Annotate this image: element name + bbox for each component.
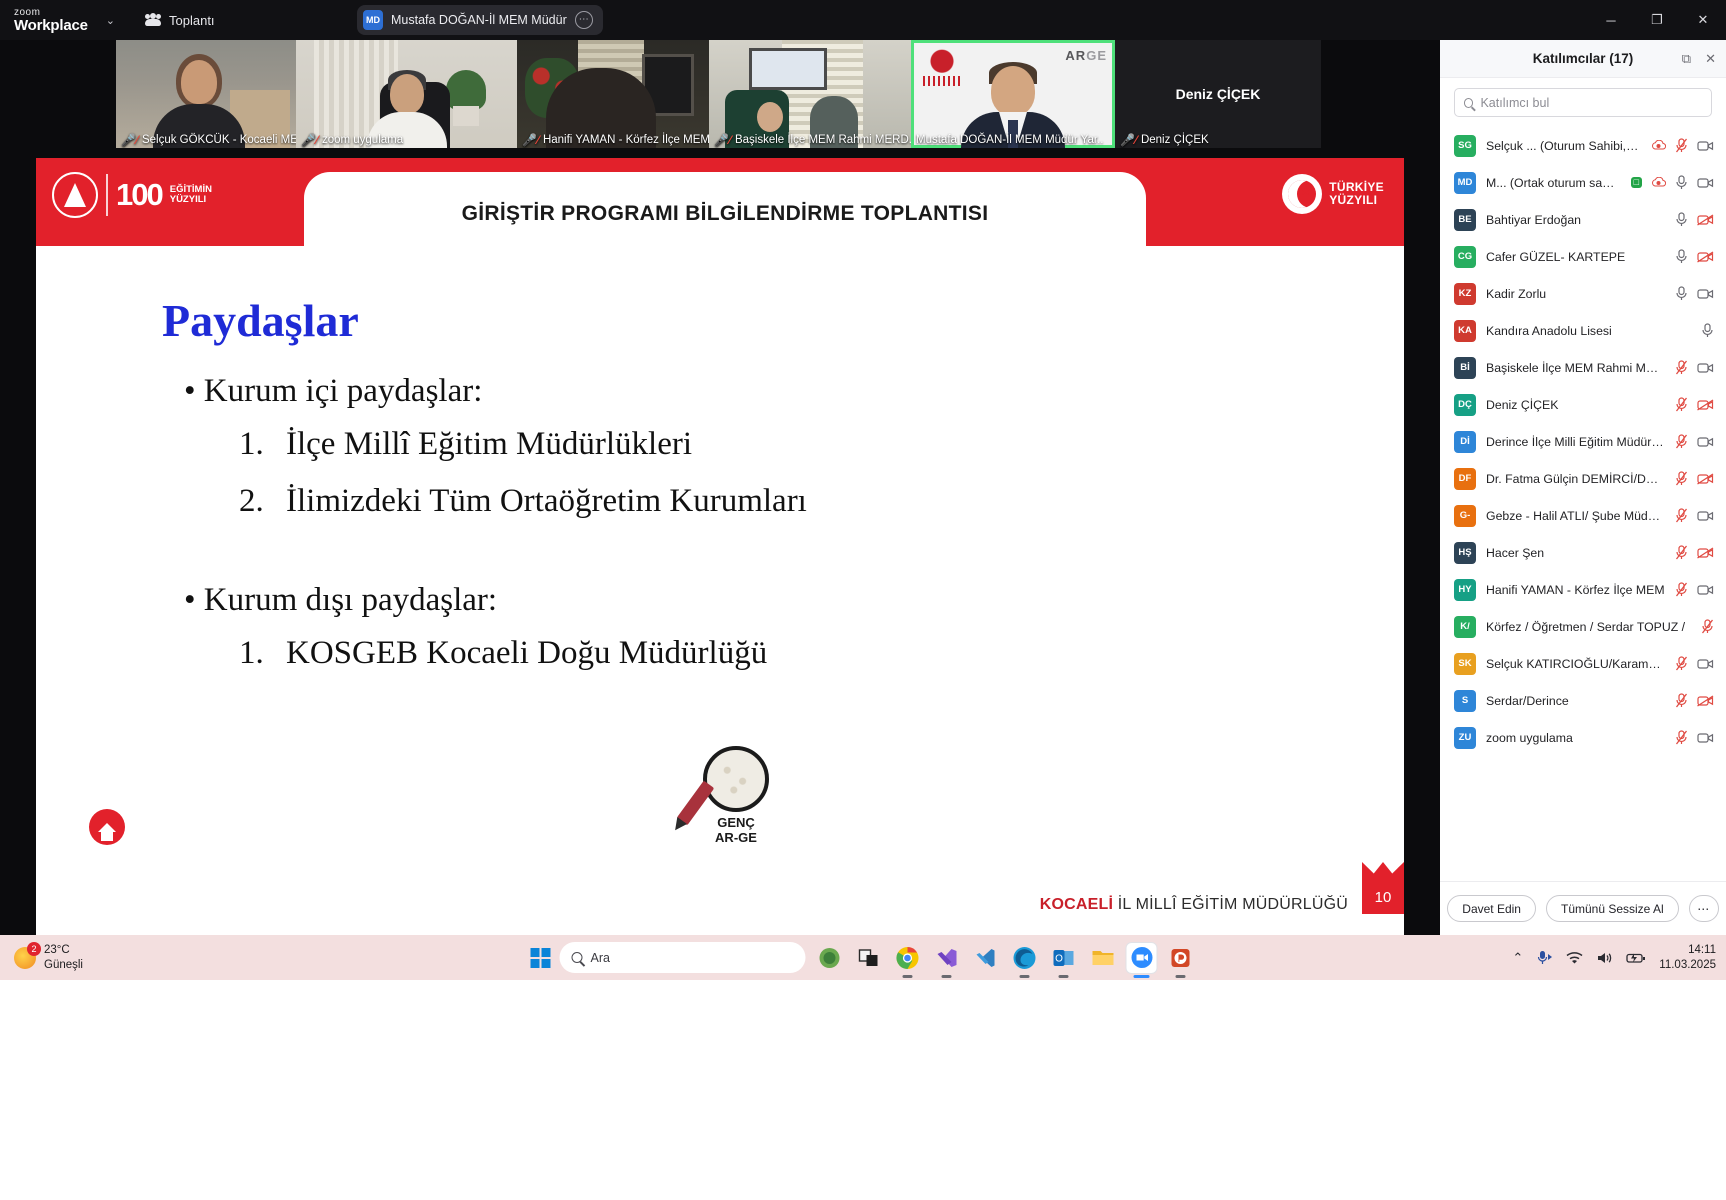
- video-tile[interactable]: 🎤⁄ Hanifi YAMAN - Körfez İlçe MEM: [517, 40, 709, 148]
- avatar: SK: [1454, 653, 1476, 675]
- camera-on-icon: [1697, 584, 1714, 596]
- footer-rest: İL MİLLÎ EĞİTİM MÜDÜRLÜĞÜ: [1113, 896, 1348, 913]
- participant-status-icons: [1651, 138, 1714, 153]
- taskbar-search-placeholder: Ara: [591, 951, 610, 965]
- avatar: DF: [1454, 468, 1476, 490]
- camera-off-icon: [1697, 695, 1714, 707]
- slide-page-number: 10: [1362, 862, 1404, 914]
- video-tile-no-video[interactable]: Deniz ÇİÇEK 🎤⁄ Deniz ÇİÇEK: [1115, 40, 1321, 148]
- mic-muted-icon: 🎤⁄: [301, 133, 318, 147]
- meb-logo: 100 EĞİTİMİN YÜZYILI: [52, 172, 212, 218]
- participant-search-wrapper: [1440, 78, 1726, 125]
- avatar: KA: [1454, 320, 1476, 342]
- mic-muted-icon: 🎤⁄: [121, 133, 138, 147]
- meb-seal-icon: [52, 172, 98, 218]
- weather-widget[interactable]: 2 23°C Güneşli: [14, 943, 83, 972]
- zoom-logo-line2: Workplace: [14, 18, 88, 33]
- mute-all-button[interactable]: Tümünü Sessize Al: [1546, 895, 1679, 922]
- camera-on-icon: [1697, 140, 1714, 152]
- participant-row[interactable]: ZUzoom uygulama: [1440, 719, 1726, 756]
- svg-text:O: O: [1055, 953, 1063, 964]
- participant-row[interactable]: KZKadir Zorlu: [1440, 275, 1726, 312]
- participant-name: Dr. Fatma Gülçin DEMİRCİ/Darıc...: [1486, 472, 1665, 486]
- copilot-icon[interactable]: [815, 943, 845, 973]
- participant-name: Serdar/Derince: [1486, 694, 1665, 708]
- video-tile[interactable]: 🎤⁄ Başiskele İlçe MEM Rahmi MERD..: [709, 40, 911, 148]
- camera-off-icon: [1697, 547, 1714, 559]
- participant-status-icons: □: [1631, 175, 1714, 190]
- participant-row[interactable]: MDM... (Ortak oturum sahibi)□: [1440, 164, 1726, 201]
- video-tile-active-speaker[interactable]: ARGE Mustafa DOĞAN-İl MEM Müdür Yar..: [911, 40, 1115, 148]
- participant-name: Selçuk ... (Oturum Sahibi, ben): [1486, 139, 1641, 153]
- participant-name: Selçuk KATIRCIOĞLU/Karamürsel: [1486, 657, 1665, 671]
- participant-name: zoom uygulama: [1486, 731, 1665, 745]
- windows-taskbar: 2 23°C Güneşli Ara: [0, 935, 1726, 980]
- camera-off-icon: [1697, 214, 1714, 226]
- participant-name: Gebze - Halil ATLI/ Şube Müdürü: [1486, 509, 1665, 523]
- taskbar-search[interactable]: Ara: [560, 942, 806, 973]
- video-tile[interactable]: 🎤⁄ zoom uygulama: [296, 40, 517, 148]
- screen-share-badge: □: [1631, 177, 1642, 188]
- zoom-logo: zoom Workplace: [14, 8, 88, 33]
- slide-bullet-2: • Kurum dışı paydaşlar:: [184, 582, 1404, 619]
- minimize-button[interactable]: ─: [1588, 0, 1634, 40]
- mic-muted-icon: [1675, 138, 1688, 153]
- genc-arge-text: GENÇ AR-GE: [681, 816, 791, 846]
- participant-row[interactable]: DÇDeniz ÇİÇEK: [1440, 386, 1726, 423]
- avatar: ZU: [1454, 727, 1476, 749]
- meb-text-line2: YÜZYILI: [170, 195, 212, 205]
- outlook-icon[interactable]: O: [1049, 943, 1079, 973]
- participant-row[interactable]: HYHanifi YAMAN - Körfez İlçe MEM: [1440, 571, 1726, 608]
- camera-on-icon: [1697, 732, 1714, 744]
- avatar: Bİ: [1454, 357, 1476, 379]
- participants-panel-title: Katılımcılar (17): [1533, 51, 1634, 66]
- participant-status-icons: [1675, 508, 1714, 523]
- system-tray: ⌃ 14:11 11.03.2025: [1512, 943, 1716, 973]
- participant-status-icons: [1675, 249, 1714, 264]
- slide-footer: KOCAELİ İL MİLLÎ EĞİTİM MÜDÜRLÜĞÜ 10: [1040, 862, 1404, 914]
- weather-condition: Güneşli: [44, 958, 83, 972]
- participant-status-icons: [1675, 471, 1714, 486]
- avatar: HŞ: [1454, 542, 1476, 564]
- video-tile[interactable]: 🎤⁄ Selçuk GÖKCÜK - Kocaeli MEM ...: [116, 40, 296, 148]
- file-explorer-icon[interactable]: [1088, 943, 1118, 973]
- slide-heading: Paydaşlar: [162, 294, 1404, 347]
- participants-panel: Katılımcılar (17) ⧉ ✕ SGSelçuk ... (Otur…: [1440, 40, 1726, 935]
- video-tile-name: Mustafa DOĞAN-İl MEM Müdür Yar..: [916, 134, 1103, 146]
- list-item: İlçe Millî Eğitim Müdürlükleri: [272, 426, 1404, 463]
- search-icon: [1464, 98, 1473, 108]
- recording-icon: [1651, 177, 1666, 188]
- avatar: MD: [1454, 172, 1476, 194]
- participant-row[interactable]: DFDr. Fatma Gülçin DEMİRCİ/Darıc...: [1440, 460, 1726, 497]
- tab-meeting[interactable]: Toplantı: [145, 13, 215, 28]
- avatar: CG: [1454, 246, 1476, 268]
- avatar: K/: [1454, 616, 1476, 638]
- camera-off-icon: [1697, 399, 1714, 411]
- active-meeting-pill[interactable]: MD Mustafa DOĞAN-İl MEM Müdür ⋯: [357, 5, 603, 35]
- participants-panel-header: Katılımcılar (17) ⧉ ✕: [1440, 40, 1726, 78]
- participant-status-icons: [1701, 619, 1714, 634]
- genc-arge-line2: AR-GE: [681, 831, 791, 846]
- sun-icon: 2: [14, 947, 36, 969]
- participant-status-icons: [1675, 434, 1714, 449]
- camera-on-icon: [1697, 288, 1714, 300]
- avatar: G-: [1454, 505, 1476, 527]
- video-tile-label: 🎤⁄ Hanifi YAMAN - Körfez İlçe MEM: [517, 131, 709, 148]
- participant-row[interactable]: SKSelçuk KATIRCIOĞLU/Karamürsel: [1440, 645, 1726, 682]
- avatar: Dİ: [1454, 431, 1476, 453]
- participant-name: Kadir Zorlu: [1486, 287, 1665, 301]
- tray-chevron-icon[interactable]: ⌃: [1512, 950, 1523, 966]
- video-tile-name: Hanifi YAMAN - Körfez İlçe MEM: [543, 134, 709, 146]
- arge-logo: ARGE: [1065, 48, 1107, 63]
- participant-status-icons: [1675, 730, 1714, 745]
- mic-muted-icon: [1675, 545, 1688, 560]
- participant-row[interactable]: BİBaşiskele İlçe MEM Rahmi MERD...: [1440, 349, 1726, 386]
- video-filmstrip: 🎤⁄ Selçuk GÖKCÜK - Kocaeli MEM ... 🎤⁄ zo…: [116, 40, 1321, 148]
- list-item: KOSGEB Kocaeli Doğu Müdürlüğü: [272, 635, 1404, 672]
- mic-on-icon: [1675, 286, 1688, 301]
- mic-on-icon: [1675, 249, 1688, 264]
- participant-name: Kandıra Anadolu Lisesi: [1486, 324, 1691, 338]
- participant-status-icons: [1675, 360, 1714, 375]
- mic-muted-icon: [1675, 471, 1688, 486]
- visual-studio-icon[interactable]: [932, 943, 962, 973]
- participant-name: Cafer GÜZEL- KARTEPE: [1486, 250, 1665, 264]
- clock-time: 14:11: [1659, 943, 1716, 958]
- participant-name: Hacer Şen: [1486, 546, 1665, 560]
- clock-date: 11.03.2025: [1659, 958, 1716, 973]
- participants-panel-footer: Davet Edin Tümünü Sessize Al ⋯: [1440, 881, 1726, 935]
- participant-row[interactable]: SGSelçuk ... (Oturum Sahibi, ben): [1440, 127, 1726, 164]
- mic-muted-icon: [1675, 730, 1688, 745]
- more-options-icon[interactable]: ⋯: [575, 11, 593, 29]
- slide-bullet-1: • Kurum içi paydaşlar:: [184, 373, 1404, 410]
- title-bar: zoom Workplace ⌄ Toplantı MD Mustafa DOĞ…: [0, 0, 1726, 40]
- camera-on-icon: [1697, 177, 1714, 189]
- participant-status-icons: [1675, 693, 1714, 708]
- zoom-app-window: zoom Workplace ⌄ Toplantı MD Mustafa DOĞ…: [0, 0, 1726, 935]
- mic-muted-icon: [1675, 508, 1688, 523]
- avatar: KZ: [1454, 283, 1476, 305]
- zoom-icon[interactable]: [1127, 943, 1157, 973]
- footer-organisation: KOCAELİ İL MİLLÎ EĞİTİM MÜDÜRLÜĞÜ: [1040, 896, 1348, 914]
- edge-icon[interactable]: [1010, 943, 1040, 973]
- close-icon[interactable]: ✕: [1705, 51, 1716, 67]
- camera-on-icon: [1697, 436, 1714, 448]
- video-tile-name: Selçuk GÖKCÜK - Kocaeli MEM ...: [142, 134, 296, 146]
- slide-header-title: GİRİŞTİR PROGRAMI BİLGİLENDİRME TOPLANTI…: [304, 202, 1146, 226]
- participant-row[interactable]: SSerdar/Derince: [1440, 682, 1726, 719]
- participant-status-icons: [1675, 582, 1714, 597]
- video-tile-name: zoom uygulama: [322, 134, 403, 146]
- magnifier-icon: [703, 746, 769, 812]
- weather-temperature: 23°C: [44, 943, 83, 957]
- mic-muted-icon: 🎤⁄: [522, 133, 539, 147]
- close-button[interactable]: ✕: [1680, 0, 1726, 40]
- participant-search-box[interactable]: [1454, 88, 1712, 117]
- participant-row[interactable]: G-Gebze - Halil ATLI/ Şube Müdürü: [1440, 497, 1726, 534]
- slide-sublist-1: İlçe Millî Eğitim Müdürlükleri İlimizdek…: [272, 426, 1404, 520]
- participant-name: Bahtiyar Erdoğan: [1486, 213, 1665, 227]
- genc-arge-line1: GENÇ: [681, 816, 791, 831]
- participant-display-name: Deniz ÇİÇEK: [1176, 86, 1261, 102]
- mic-muted-icon: [1675, 434, 1688, 449]
- participant-row[interactable]: DİDerince İlçe Milli Eğitim Müdürlü...: [1440, 423, 1726, 460]
- avatar: MD: [363, 10, 383, 30]
- hundred-years-number: 100: [116, 181, 162, 209]
- search-icon: [572, 952, 583, 963]
- camera-on-icon: [1697, 658, 1714, 670]
- notification-badge: 2: [27, 942, 41, 956]
- people-icon: [145, 14, 161, 26]
- participant-name: Körfez / Öğretmen / Serdar TOPUZ /: [1486, 620, 1691, 634]
- list-item: İlimizdeki Tüm Ortaöğretim Kurumları: [272, 483, 1404, 520]
- wifi-icon[interactable]: [1566, 951, 1583, 965]
- tab-meeting-label: Toplantı: [169, 13, 215, 28]
- participant-status-icons: [1701, 323, 1714, 338]
- home-icon[interactable]: [89, 809, 125, 845]
- search-input[interactable]: [1480, 96, 1702, 110]
- battery-icon[interactable]: [1626, 951, 1646, 965]
- shared-screen-slide: 100 EĞİTİMİN YÜZYILI GİRİŞTİR PROGRAMI B…: [36, 158, 1404, 936]
- avatar: BE: [1454, 209, 1476, 231]
- mic-muted-icon: 🎤⁄: [1120, 133, 1137, 147]
- volume-icon[interactable]: [1596, 951, 1613, 965]
- chrome-icon[interactable]: [893, 943, 923, 973]
- mic-muted-icon: [1675, 656, 1688, 671]
- camera-off-icon: [1697, 473, 1714, 485]
- participant-status-icons: [1675, 286, 1714, 301]
- start-button[interactable]: [531, 948, 551, 968]
- video-tile-label: 🎤⁄ Başiskele İlçe MEM Rahmi MERD..: [709, 131, 911, 148]
- mic-muted-icon: [1701, 619, 1714, 634]
- mic-muted-icon: [1675, 397, 1688, 412]
- window-controls: ─ ❐ ✕: [1588, 0, 1726, 40]
- participant-name: M... (Ortak oturum sahibi): [1486, 176, 1621, 190]
- participant-row[interactable]: BEBahtiyar Erdoğan: [1440, 201, 1726, 238]
- participant-name: Deniz ÇİÇEK: [1486, 398, 1665, 412]
- avatar: SG: [1454, 135, 1476, 157]
- task-view-icon[interactable]: [854, 943, 884, 973]
- slide-header: 100 EĞİTİMİN YÜZYILI GİRİŞTİR PROGRAMI B…: [36, 158, 1404, 246]
- popout-icon[interactable]: ⧉: [1682, 51, 1691, 67]
- turkiye-logo-text: TÜRKİYE YÜZYILI: [1329, 181, 1384, 206]
- participant-row[interactable]: HŞHacer Şen: [1440, 534, 1726, 571]
- taskbar-center: Ara O: [531, 942, 1196, 973]
- participant-status-icons: [1675, 212, 1714, 227]
- participant-status-icons: [1675, 545, 1714, 560]
- participant-row[interactable]: KAKandıra Anadolu Lisesi: [1440, 312, 1726, 349]
- mic-on-icon: [1675, 212, 1688, 227]
- video-tile-name: Deniz ÇİÇEK: [1141, 134, 1209, 146]
- participant-name: Hanifi YAMAN - Körfez İlçe MEM: [1486, 583, 1665, 597]
- camera-on-icon: [1697, 510, 1714, 522]
- mic-muted-icon: [1675, 582, 1688, 597]
- recording-icon: [1651, 140, 1666, 151]
- video-tile-label: 🎤⁄ zoom uygulama: [296, 131, 408, 148]
- mic-muted-icon: 🎤⁄: [714, 133, 731, 147]
- avatar: HY: [1454, 579, 1476, 601]
- zoom-logo-line1: zoom: [14, 8, 88, 18]
- tr-text-line2: YÜZYILI: [1329, 194, 1384, 207]
- avatar: DÇ: [1454, 394, 1476, 416]
- chevron-down-icon[interactable]: ⌄: [106, 14, 115, 27]
- microphone-icon[interactable]: [1536, 950, 1553, 965]
- participant-name: Derince İlçe Milli Eğitim Müdürlü...: [1486, 435, 1665, 449]
- participant-row[interactable]: CGCafer GÜZEL- KARTEPE: [1440, 238, 1726, 275]
- meeting-host-name: Mustafa DOĞAN-İl MEM Müdür: [391, 13, 567, 27]
- avatar: S: [1454, 690, 1476, 712]
- powerpoint-icon[interactable]: [1166, 943, 1196, 973]
- genc-arge-logo: GENÇ AR-GE: [681, 746, 791, 846]
- mic-on-icon: [1701, 323, 1714, 338]
- participant-status-icons: [1675, 656, 1714, 671]
- video-tile-name: Başiskele İlçe MEM Rahmi MERD..: [735, 134, 911, 146]
- mic-muted-icon: [1675, 360, 1688, 375]
- crescent-star-icon: [1282, 174, 1322, 214]
- camera-off-icon: [1697, 251, 1714, 263]
- video-tile-label: 🎤⁄ Deniz ÇİÇEK: [1115, 131, 1214, 148]
- slide-sublist-2: KOSGEB Kocaeli Doğu Müdürlüğü: [272, 635, 1404, 672]
- participant-row[interactable]: K/Körfez / Öğretmen / Serdar TOPUZ /: [1440, 608, 1726, 645]
- more-options-button[interactable]: ⋯: [1689, 895, 1719, 922]
- camera-on-icon: [1697, 362, 1714, 374]
- footer-city: KOCAELİ: [1040, 896, 1113, 913]
- participant-name: Başiskele İlçe MEM Rahmi MERD...: [1486, 361, 1665, 375]
- vs-code-icon[interactable]: [971, 943, 1001, 973]
- turkiye-yuzyili-logo: TÜRKİYE YÜZYILI: [1282, 174, 1384, 214]
- taskbar-clock[interactable]: 14:11 11.03.2025: [1659, 943, 1716, 973]
- maximize-button[interactable]: ❐: [1634, 0, 1680, 40]
- invite-button[interactable]: Davet Edin: [1447, 895, 1536, 922]
- video-tile-label: Mustafa DOĞAN-İl MEM Müdür Yar..: [911, 131, 1108, 148]
- mic-muted-icon: [1675, 693, 1688, 708]
- mic-on-icon: [1675, 175, 1688, 190]
- participant-status-icons: [1675, 397, 1714, 412]
- meb-logo-text: EĞİTİMİN YÜZYILI: [170, 185, 212, 205]
- video-tile-label: 🎤⁄ Selçuk GÖKCÜK - Kocaeli MEM ...: [116, 131, 296, 148]
- participants-list[interactable]: SGSelçuk ... (Oturum Sahibi, ben)MDM... …: [1440, 125, 1726, 881]
